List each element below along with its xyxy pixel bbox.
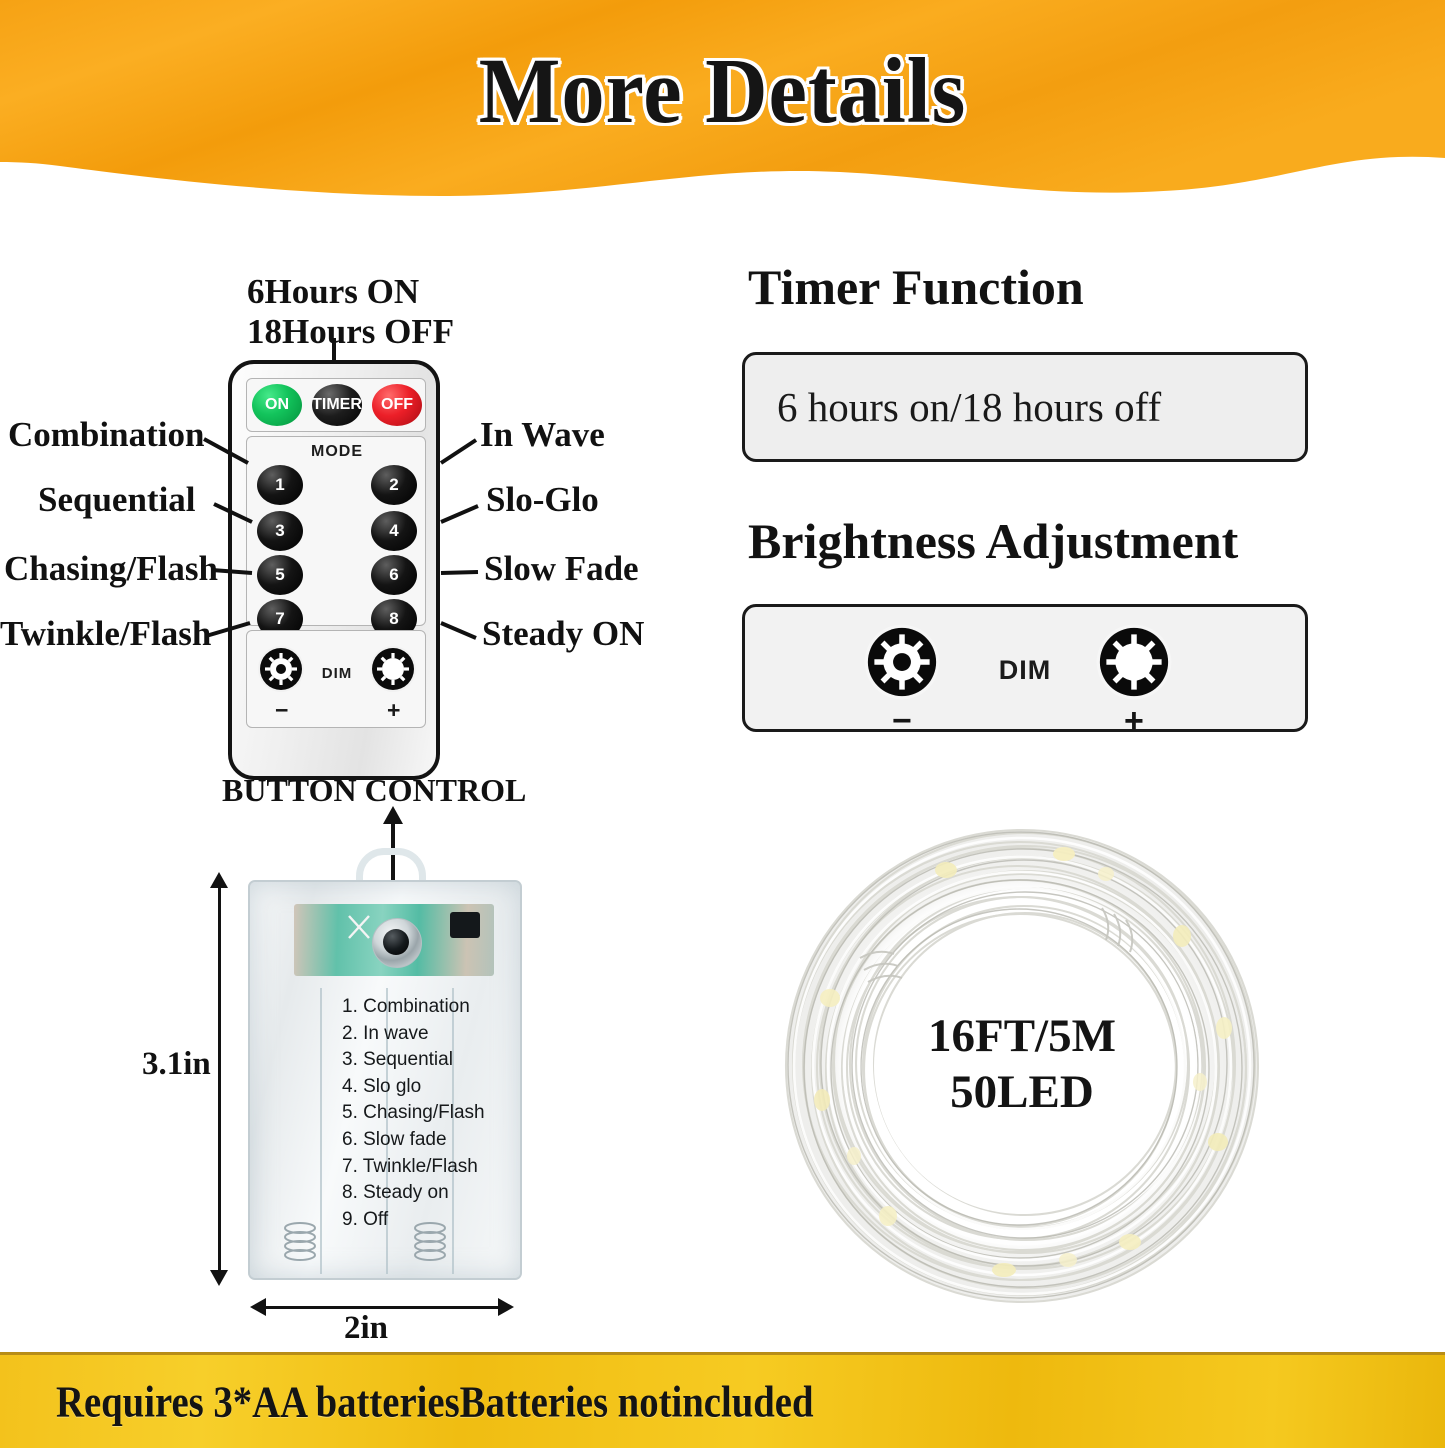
remote-mode-button-2[interactable]: 2 [371,465,417,505]
width-dimension-label: 2in [344,1310,388,1347]
footer-text: Requires 3*AA batteriesBatteries notincl… [56,1376,814,1427]
remote-mode-button-1[interactable]: 1 [257,465,303,505]
battery-mode-item: 3. Sequential [342,1047,485,1074]
coil-led-count-spec: 50LED [768,1064,1276,1120]
remote-body: ON TIMER OFF MODE 1 2 3 4 5 6 7 8 DIM [228,360,440,780]
brightness-dim-up-knob-icon[interactable] [1095,623,1173,701]
remote-dim-minus-sign: − [275,697,288,724]
timer-function-box: 6 hours on/18 hours off [742,352,1308,462]
coil-spec-text: 16FT/5M 50LED [768,1008,1276,1120]
battery-box-control-button-center[interactable] [383,929,409,955]
height-dimension-arrowhead-bottom [210,1270,228,1286]
remote-mode-panel: MODE 1 2 3 4 5 6 7 8 [246,436,426,626]
remote-dim-up-knob-icon[interactable] [369,645,417,693]
callout-twinkle-flash: Twinkle/Flash [0,614,211,654]
battery-mode-item: 7. Twinkle/Flash [342,1154,485,1181]
battery-slot-divider [320,988,322,1274]
battery-mode-item: 5. Chasing/Flash [342,1100,485,1127]
remote-mode-button-5[interactable]: 5 [257,555,303,595]
callout-slo-glo: Slo-Glo [486,480,599,520]
remote-dim-down-knob-icon[interactable] [257,645,305,693]
coil-length-spec: 16FT/5M [768,1008,1276,1064]
battery-mode-item: 8. Steady on [342,1180,485,1207]
brightness-dim-down-knob-icon[interactable] [863,623,941,701]
timer-function-value: 6 hours on/18 hours off [777,383,1161,431]
callout-combination: Combination [8,415,204,455]
remote-timer-callout-line1: 6Hours ON [247,272,419,312]
pcb-x-marking-icon [346,912,372,942]
brightness-plus-sign: + [1124,702,1144,741]
battery-mode-item: 6. Slow fade [342,1127,485,1154]
remote-timer-callout-line2: 18Hours OFF [247,312,454,352]
remote-timer-button[interactable]: TIMER [312,384,362,426]
remote-mode-label: MODE [247,443,427,461]
remote-dim-plus-sign: + [387,697,400,724]
brightness-adjustment-box: DIM − + [742,604,1308,732]
battery-mode-item: 2. In wave [342,1021,485,1048]
battery-mode-item: 4. Slo glo [342,1074,485,1101]
remote-mode-button-6[interactable]: 6 [371,555,417,595]
battery-box-shell: 1. Combination 2. In wave 3. Sequential … [248,880,522,1280]
footer-banner: Requires 3*AA batteriesBatteries notincl… [0,1352,1445,1448]
brightness-dim-label: DIM [999,655,1052,686]
remote-mode-button-3[interactable]: 3 [257,511,303,551]
brightness-minus-sign: − [892,702,912,741]
callout-in-wave: In Wave [480,415,605,455]
callout-chasing-flash: Chasing/Flash [4,549,218,589]
battery-box: BUTTON CONTROL [248,880,522,1280]
battery-spring-icon [280,1222,320,1266]
remote-on-button[interactable]: ON [252,384,302,426]
remote-dim-panel: DIM [246,630,426,728]
button-control-callout: BUTTON CONTROL [222,772,526,809]
battery-mode-item: 1. Combination [342,994,485,1021]
callout-slow-fade: Slow Fade [484,549,639,589]
brightness-adjustment-heading: Brightness Adjustment [748,512,1238,570]
width-dimension-line [258,1306,506,1309]
height-dimension-label: 3.1in [142,1046,211,1083]
battery-box-mode-list: 1. Combination 2. In wave 3. Sequential … [342,994,485,1233]
callout-steady-on: Steady ON [482,614,644,654]
led-wire-coil: 16FT/5M 50LED [768,812,1276,1320]
header-banner: More Details [0,0,1445,205]
callout-sequential: Sequential [38,480,196,520]
remote-power-panel: ON TIMER OFF [246,378,426,432]
timer-function-heading: Timer Function [748,258,1084,316]
page-title: More Details [51,38,1395,145]
height-dimension-line [218,878,221,1282]
pcb-black-component [450,912,480,938]
remote-timer-leader-line [332,338,336,360]
remote-off-button[interactable]: OFF [372,384,422,426]
width-dimension-arrowhead-right [498,1298,514,1316]
remote-mode-button-4[interactable]: 4 [371,511,417,551]
battery-mode-item: 9. Off [342,1207,485,1234]
remote-control[interactable]: ON TIMER OFF MODE 1 2 3 4 5 6 7 8 DIM [228,360,440,780]
